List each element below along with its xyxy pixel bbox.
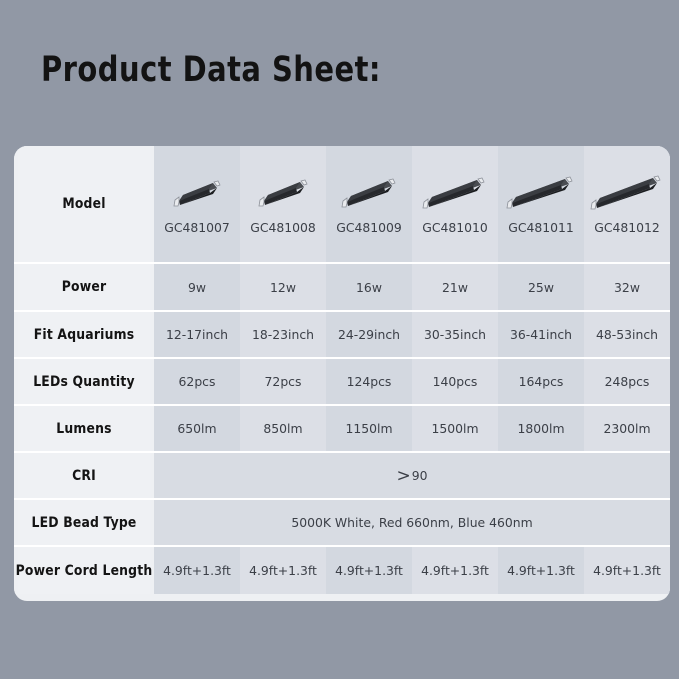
table-cell: GC481010	[412, 146, 498, 262]
row-label-power-cord-length: Power Cord Length	[18, 547, 151, 594]
model-code: GC481007	[164, 220, 230, 235]
table-row: Model GC481007	[14, 146, 670, 264]
table-cell: 850lm	[240, 406, 326, 451]
table-cell-merged: > 90	[154, 453, 670, 498]
page-title: Product Data Sheet:	[41, 50, 381, 90]
aquarium-led-bar-icon	[248, 173, 318, 213]
power-cord-length-cells: 4.9ft+1.3ft 4.9ft+1.3ft 4.9ft+1.3ft 4.9f…	[154, 547, 670, 594]
table-cell: 21w	[412, 264, 498, 310]
table-cell: GC481007	[154, 146, 240, 262]
table-cell: 1800lm	[498, 406, 584, 451]
table-cell-merged: 5000K White, Red 660nm, Blue 460nm	[154, 500, 670, 545]
table-cell: 4.9ft+1.3ft	[240, 547, 326, 594]
table-cell: 124pcs	[326, 359, 412, 404]
lumens-cells: 650lm 850lm 1150lm 1500lm 1800lm 2300lm	[154, 406, 670, 451]
table-cell: 9w	[154, 264, 240, 310]
table-cell: 140pcs	[412, 359, 498, 404]
table-row: Power 9w 12w 16w 21w 25w 32w	[14, 264, 670, 312]
table-row: LED Bead Type 5000K White, Red 660nm, Bl…	[14, 500, 670, 547]
row-label-power: Power	[18, 264, 151, 310]
cri-value: > 90	[396, 467, 427, 484]
model-code: GC481012	[594, 220, 660, 235]
table-cell: 72pcs	[240, 359, 326, 404]
table-cell: 62pcs	[154, 359, 240, 404]
table-cell: 24-29inch	[326, 312, 412, 357]
table-cell: 25w	[498, 264, 584, 310]
table-cell: 30-35inch	[412, 312, 498, 357]
row-label-leds-quantity: LEDs Quantity	[18, 359, 151, 404]
aquarium-led-bar-icon	[587, 173, 667, 213]
table-cell: 12-17inch	[154, 312, 240, 357]
table-cell: 4.9ft+1.3ft	[154, 547, 240, 594]
aquarium-led-bar-icon	[162, 173, 232, 213]
model-code: GC481010	[422, 220, 488, 235]
table-cell: 36-41inch	[498, 312, 584, 357]
table-cell: 164pcs	[498, 359, 584, 404]
table-cell: 4.9ft+1.3ft	[584, 547, 670, 594]
table-row: Lumens 650lm 850lm 1150lm 1500lm 1800lm …	[14, 406, 670, 453]
cri-number: 90	[412, 468, 428, 483]
product-data-table: Model GC481007	[14, 146, 670, 601]
table-cell: GC481011	[498, 146, 584, 262]
table-cell: 12w	[240, 264, 326, 310]
table-cell: 32w	[584, 264, 670, 310]
table-cell: 48-53inch	[584, 312, 670, 357]
table-cell: 248pcs	[584, 359, 670, 404]
table-body: Model GC481007	[14, 146, 670, 601]
table-row: CRI > 90	[14, 453, 670, 500]
table-cell: 4.9ft+1.3ft	[326, 547, 412, 594]
table-row: Power Cord Length 4.9ft+1.3ft 4.9ft+1.3f…	[14, 547, 670, 594]
table-cell: 18-23inch	[240, 312, 326, 357]
model-cells: GC481007 GC481008	[154, 146, 670, 262]
aquarium-led-bar-icon	[502, 173, 580, 213]
row-label-fit-aquariums: Fit Aquariums	[18, 312, 151, 357]
table-cell: 2300lm	[584, 406, 670, 451]
fit-aquariums-cells: 12-17inch 18-23inch 24-29inch 30-35inch …	[154, 312, 670, 357]
row-label-model: Model	[18, 146, 151, 262]
table-cell: GC481009	[326, 146, 412, 262]
row-label-lumens: Lumens	[18, 406, 151, 451]
leds-quantity-cells: 62pcs 72pcs 124pcs 140pcs 164pcs 248pcs	[154, 359, 670, 404]
row-label-led-bead-type: LED Bead Type	[18, 500, 151, 545]
led-bead-type-cells: 5000K White, Red 660nm, Blue 460nm	[154, 500, 670, 545]
model-code: GC481009	[336, 220, 402, 235]
aquarium-led-bar-icon	[417, 173, 493, 213]
greater-than-icon: >	[396, 468, 410, 485]
table-cell: 4.9ft+1.3ft	[412, 547, 498, 594]
table-cell: GC481008	[240, 146, 326, 262]
power-cells: 9w 12w 16w 21w 25w 32w	[154, 264, 670, 310]
table-cell: 4.9ft+1.3ft	[498, 547, 584, 594]
table-cell: 1150lm	[326, 406, 412, 451]
cri-cells: > 90	[154, 453, 670, 498]
table-row: Fit Aquariums 12-17inch 18-23inch 24-29i…	[14, 312, 670, 359]
model-code: GC481011	[508, 220, 574, 235]
table-cell: 1500lm	[412, 406, 498, 451]
aquarium-led-bar-icon	[333, 173, 405, 213]
row-label-cri: CRI	[18, 453, 151, 498]
table-cell: GC481012	[584, 146, 670, 262]
table-row: LEDs Quantity 62pcs 72pcs 124pcs 140pcs …	[14, 359, 670, 406]
model-code: GC481008	[250, 220, 316, 235]
table-cell: 650lm	[154, 406, 240, 451]
table-cell: 16w	[326, 264, 412, 310]
